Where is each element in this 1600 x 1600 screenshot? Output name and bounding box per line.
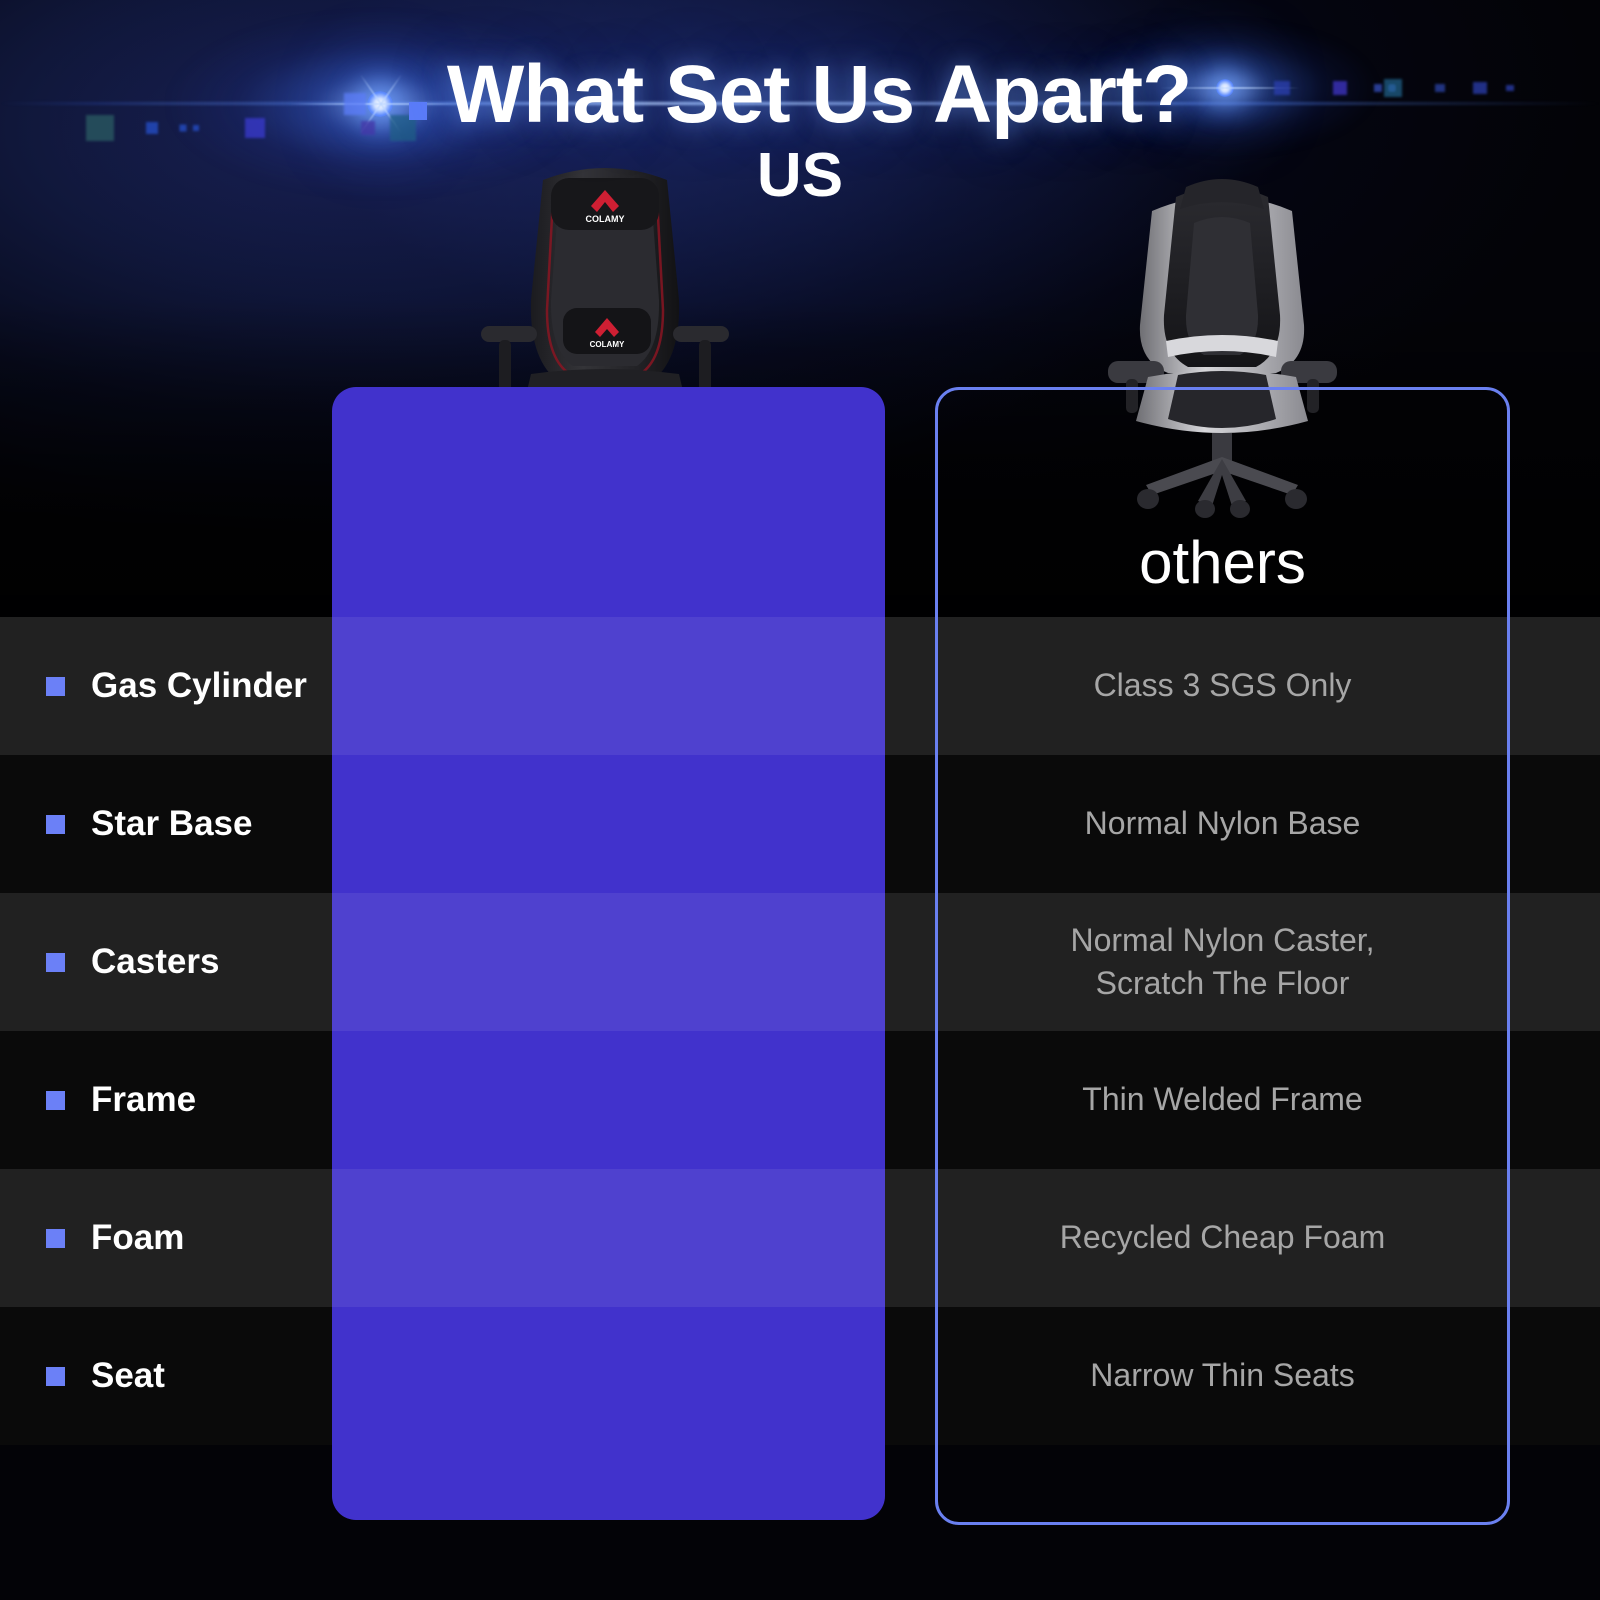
square-bullet-icon <box>46 815 65 834</box>
us-column-header: US <box>0 140 1600 211</box>
svg-text:COLAMY: COLAMY <box>586 214 625 224</box>
feature-label-text: Seat <box>91 1356 165 1396</box>
others-chair-svg <box>1090 165 1355 520</box>
feature-label-row: Gas Cylinder <box>0 617 332 755</box>
square-bullet-icon <box>46 677 65 696</box>
others-chair-image <box>1090 165 1355 520</box>
us-column-card <box>332 387 885 1520</box>
us-row-band <box>332 893 885 1031</box>
feature-label-row: Frame <box>0 1031 332 1169</box>
feature-label-text: Foam <box>91 1218 184 1258</box>
square-bullet-icon <box>409 102 427 120</box>
square-bullet-icon <box>46 1229 65 1248</box>
us-row-band <box>332 1169 885 1307</box>
others-value-cell: Thin Welded Frame <box>935 1031 1510 1169</box>
others-values-list: Class 3 SGS Only Normal Nylon Base Norma… <box>935 617 1510 1445</box>
caster-wheels <box>1137 489 1307 518</box>
others-value-cell: Normal Nylon Caster,Scratch The Floor <box>935 893 1510 1031</box>
feature-label-text: Gas Cylinder <box>91 666 307 706</box>
square-bullet-icon <box>46 1367 65 1386</box>
feature-label-text: Star Base <box>91 804 252 844</box>
feature-label-row: Foam <box>0 1169 332 1307</box>
others-value-cell: Narrow Thin Seats <box>935 1307 1510 1445</box>
comparison-infographic: What Set Us Apart? <box>0 0 1600 1600</box>
feature-label-text: Frame <box>91 1080 196 1120</box>
page-title: What Set Us Apart? <box>0 48 1600 142</box>
others-value-cell: Class 3 SGS Only <box>935 617 1510 755</box>
us-row-band <box>332 617 885 755</box>
feature-label-row: Casters <box>0 893 332 1031</box>
others-value-cell: Normal Nylon Base <box>935 755 1510 893</box>
square-bullet-icon <box>46 1091 65 1110</box>
svg-text:COLAMY: COLAMY <box>590 340 625 349</box>
feature-label-text: Casters <box>91 942 219 982</box>
feature-label-row: Seat <box>0 1307 332 1445</box>
square-bullet-icon <box>46 953 65 972</box>
feature-labels-list: Gas Cylinder Star Base Casters Frame Foa… <box>0 617 332 1445</box>
others-value-cell: Recycled Cheap Foam <box>935 1169 1510 1307</box>
page-title-text: What Set Us Apart? <box>447 48 1191 142</box>
others-column-header: others <box>935 528 1510 597</box>
feature-label-row: Star Base <box>0 755 332 893</box>
